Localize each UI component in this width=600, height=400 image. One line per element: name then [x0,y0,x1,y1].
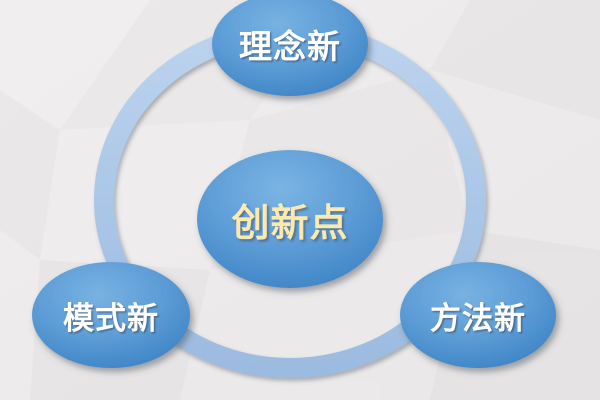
node-ellipse-top [212,0,368,96]
diagram-canvas: 理念新 创新点 模式新 方法新 [0,0,600,400]
node-ellipse-bottom-left [32,262,190,368]
node-ellipse-center [197,150,383,288]
node-ellipses [0,0,600,400]
node-ellipse-bottom-right [400,262,556,368]
